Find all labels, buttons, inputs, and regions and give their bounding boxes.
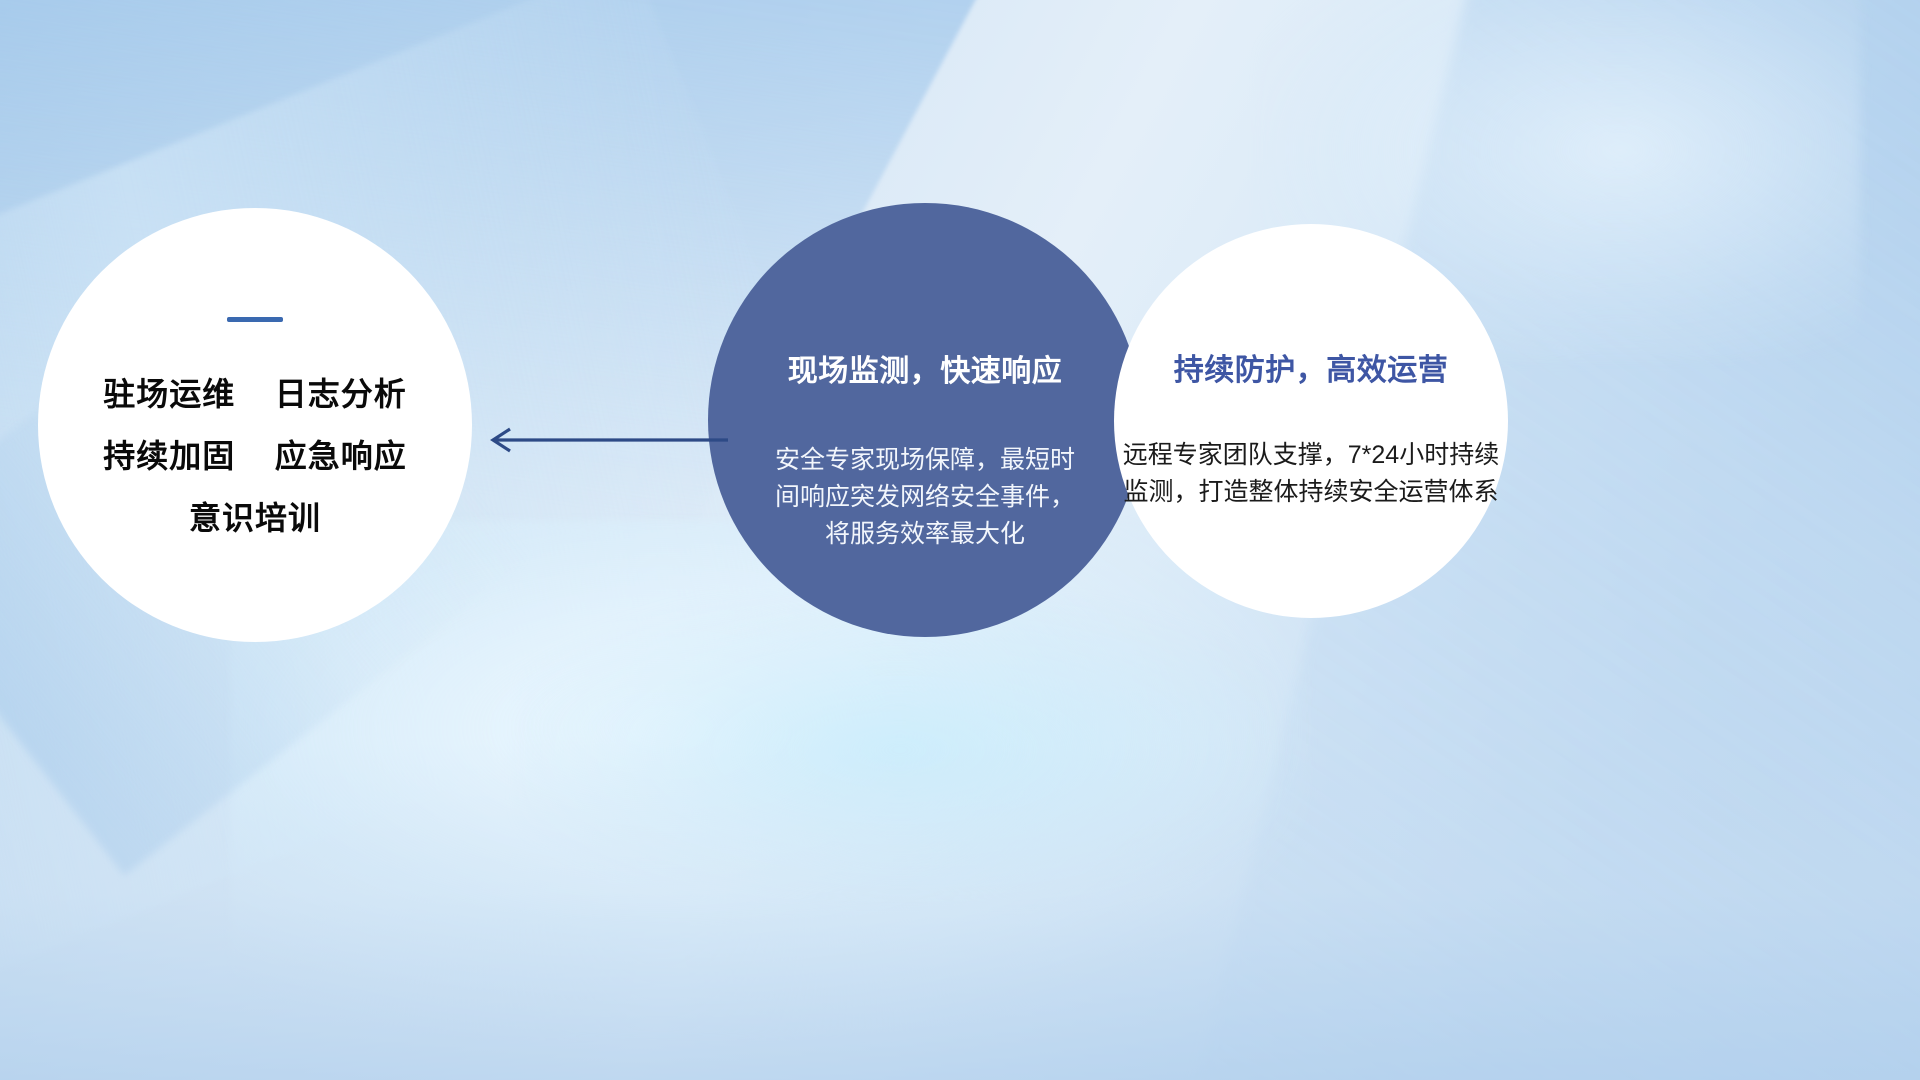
background-bottom-wash <box>0 740 1920 1080</box>
left-keyword-line-2: 持续加固 应急响应 <box>103 440 407 472</box>
right-card-body: 远程专家团队支撑，7*24小时持续监测，打造整体持续安全运营体系 <box>1121 437 1501 511</box>
right-card-content: 持续防护，高效运营 远程专家团队支撑，7*24小时持续监测，打造整体持续安全运营… <box>1114 224 1508 618</box>
mid-card-content: 现场监测，快速响应 安全专家现场保障，最短时间响应突发网络安全事件，将服务效率最… <box>708 203 1142 637</box>
right-card-title: 持续防护，高效运营 <box>1111 354 1511 387</box>
mid-card-title: 现场监测，快速响应 <box>735 355 1115 388</box>
left-card-content: 驻场运维 日志分析 持续加固 应急响应 意识培训 <box>38 208 472 642</box>
slide-canvas: 驻场运维 日志分析 持续加固 应急响应 意识培训 现场监测，快速响应 安全专家现… <box>0 0 1920 1080</box>
left-keyword-line-3: 意识培训 <box>189 502 321 534</box>
divider-dash-icon <box>227 317 283 322</box>
left-keyword-line-1: 驻场运维 日志分析 <box>103 378 407 410</box>
arrow-left-icon <box>480 418 730 462</box>
mid-card-body: 安全专家现场保障，最短时间响应突发网络安全事件，将服务效率最大化 <box>775 442 1075 553</box>
